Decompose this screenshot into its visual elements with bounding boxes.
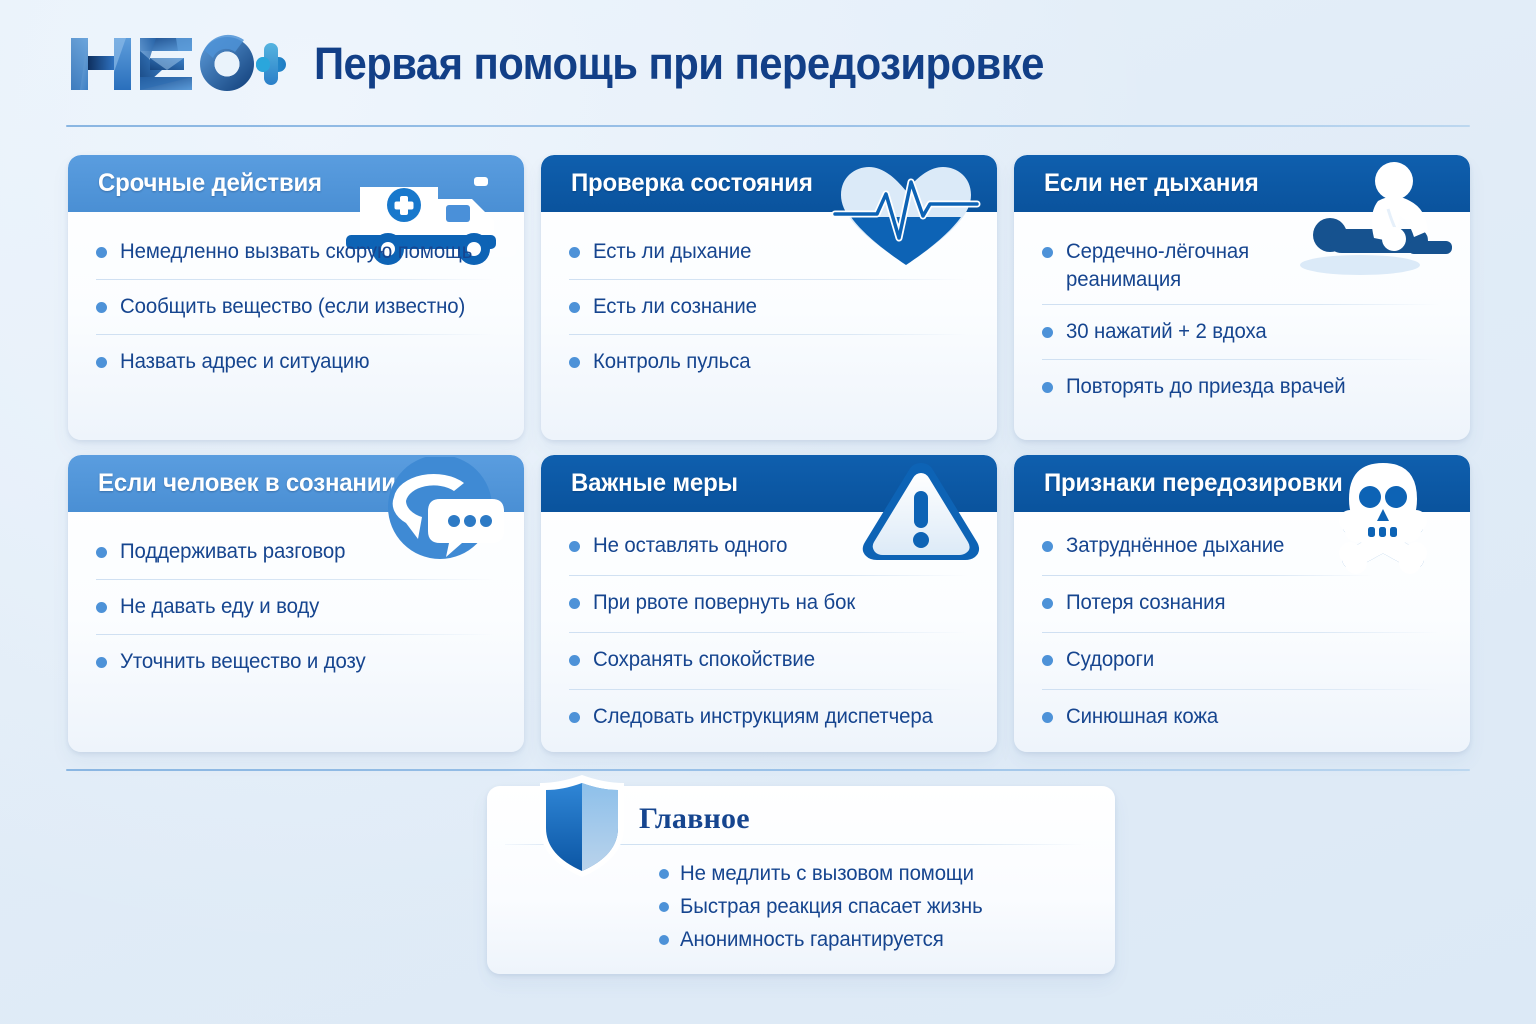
list-item-label: Синюшная кожа [1066,703,1218,731]
card-body: Затруднённое дыхание Потеря сознания Суд… [1014,512,1470,745]
page-title: Первая помощь при передозировке [314,38,1044,90]
summary-panel[interactable]: Главное Не медлить с вызовом помощи Быст… [487,786,1115,974]
summary-list: Не медлить с вызовом помощи Быстрая реак… [639,857,1085,956]
list-item: Быстрая реакция спасает жизнь [659,890,1085,923]
list-item: Назвать адрес и ситуацию [96,346,498,378]
list-item: Судороги [1042,644,1444,678]
list-item: Уточнить вещество и дозу [96,646,498,678]
card-header: Если человек в сознании [68,455,524,512]
list-item-label: Есть ли сознание [593,293,757,321]
card-no-breathing[interactable]: Если нет дыхания Сердечно-лёгочная реани… [1014,155,1470,440]
row-separator [1042,575,1372,576]
row-separator [1042,689,1440,690]
row-separator [1042,359,1440,360]
bullet-icon [569,302,580,313]
list-item: При рвоте повернуть на бок [569,587,971,621]
bullet-icon [96,602,107,613]
list-item-label: Повторять до приезда врачей [1066,373,1346,401]
card-header: Важные меры [541,455,997,512]
bullet-icon [569,598,580,609]
list-item-label: Назвать адрес и ситуацию [120,348,369,376]
cards-grid: Срочные действия Немедлен [68,155,1470,752]
bullet-icon [659,935,669,945]
summary-inner: Главное Не медлить с вызовом помощи Быст… [487,786,1115,956]
list-item-label: Не медлить с вызовом помощи [680,862,974,886]
bullet-icon [569,712,580,723]
list-item: Потеря сознания [1042,587,1444,621]
card-overdose-signs[interactable]: Признаки передозировки [1014,455,1470,752]
list-item: Анонимность гарантируется [659,923,1085,956]
bullet-icon [1042,541,1053,552]
list-item-label: Сообщить вещество (если известно) [120,293,465,321]
list-item: Есть ли сознание [569,291,971,323]
bullet-icon [569,247,580,258]
bullet-icon [569,655,580,666]
list-item-label: Следовать инструкциям диспетчера [593,703,933,731]
card-body: Немедленно вызвать скорую помощь Сообщит… [68,212,524,388]
list-item-label: Уточнить вещество и дозу [120,648,366,676]
row-separator [569,632,967,633]
bullet-icon [1042,655,1053,666]
list-item-label: Контроль пульса [593,348,750,376]
card-header: Если нет дыхания [1014,155,1470,212]
row-separator [569,334,967,335]
card-title: Если человек в сознании [98,469,396,498]
list-item-label: При рвоте повернуть на бок [593,589,855,617]
card-body: Сердечно-лёгочная реанимация 30 нажатий … [1014,212,1470,413]
row-separator [96,579,494,580]
list-item-label: Затруднённое дыхание [1066,532,1284,560]
row-separator [96,279,494,280]
list-item: Следовать инструкциям диспетчера [569,701,971,735]
card-title: Важные меры [571,469,738,498]
list-item: Сохранять спокойствие [569,644,971,678]
bullet-icon [96,547,107,558]
neo-plus-logo-icon [66,32,288,96]
list-item: Сообщить вещество (если известно) [96,291,498,323]
list-item: Не давать еду и воду [96,591,498,623]
list-item: Есть ли дыхание [569,236,971,268]
page-header: Первая помощь при передозировке [66,22,1470,106]
list-item: Повторять до приезда врачей [1042,371,1444,403]
bullet-icon [1042,712,1053,723]
card-body: Есть ли дыхание Есть ли сознание Контрол… [541,212,997,388]
list-item: 30 нажатий + 2 вдоха [1042,316,1444,348]
card-header: Признаки передозировки [1014,455,1470,512]
list-item-label: 30 нажатий + 2 вдоха [1066,318,1267,346]
shield-icon [535,772,629,880]
footer-divider [66,769,1470,771]
list-item-label: Немедленно вызвать скорую помощь [120,238,472,266]
list-item-label: Поддерживать разговор [120,538,345,566]
bullet-icon [569,357,580,368]
bullet-icon [1042,247,1053,258]
bullet-icon [659,902,669,912]
row-separator [96,334,494,335]
bullet-icon [569,541,580,552]
list-item: Синюшная кожа [1042,701,1444,735]
row-separator [96,634,494,635]
list-item-label: Быстрая реакция спасает жизнь [680,895,983,919]
list-item-label: Потеря сознания [1066,589,1225,617]
card-body: Не оставлять одного При рвоте повернуть … [541,512,997,745]
card-body: Поддерживать разговор Не давать еду и во… [68,512,524,688]
bullet-icon [1042,382,1053,393]
list-item-label: Сердечно-лёгочная реанимация [1066,238,1289,293]
bullet-icon [1042,598,1053,609]
card-condition-check[interactable]: Проверка состояния Есть ли дыхание Есть … [541,155,997,440]
summary-title: Главное [639,802,1085,836]
card-urgent-actions[interactable]: Срочные действия Немедлен [68,155,524,440]
list-item: Не оставлять одного [569,530,971,564]
card-important-measures[interactable]: Важные меры Не оставлять одного [541,455,997,752]
card-header: Проверка состояния [541,155,997,212]
bullet-icon [96,657,107,668]
list-item: Поддерживать разговор [96,536,498,568]
card-title: Проверка состояния [571,169,813,198]
infographic-page: Первая помощь при передозировке Срочные … [0,0,1536,1024]
list-item: Затруднённое дыхание [1042,530,1444,564]
list-item-label: Есть ли дыхание [593,238,751,266]
list-item-label: Сохранять спокойствие [593,646,815,674]
bullet-icon [96,247,107,258]
card-header: Срочные действия [68,155,524,212]
bullet-icon [659,869,669,879]
row-separator [569,689,967,690]
list-item-label: Судороги [1066,646,1154,674]
list-item-label: Не давать еду и воду [120,593,319,621]
list-item-label: Анонимность гарантируется [680,928,944,952]
list-item: Немедленно вызвать скорую помощь [96,236,498,268]
row-separator [569,279,967,280]
card-title: Признаки передозировки [1044,469,1343,498]
row-separator [1042,304,1440,305]
card-title: Срочные действия [98,169,322,198]
list-item: Не медлить с вызовом помощи [659,857,1085,890]
bullet-icon [96,357,107,368]
header-divider [66,125,1470,127]
card-title: Если нет дыхания [1044,169,1259,198]
card-conscious-person[interactable]: Если человек в сознании Поддерживать раз… [68,455,524,752]
row-separator [1042,632,1440,633]
list-item: Сердечно-лёгочная реанимация [1042,236,1444,293]
list-item-label: Не оставлять одного [593,532,787,560]
bullet-icon [96,302,107,313]
list-item: Контроль пульса [569,346,971,378]
bullet-icon [1042,327,1053,338]
row-separator [569,575,967,576]
